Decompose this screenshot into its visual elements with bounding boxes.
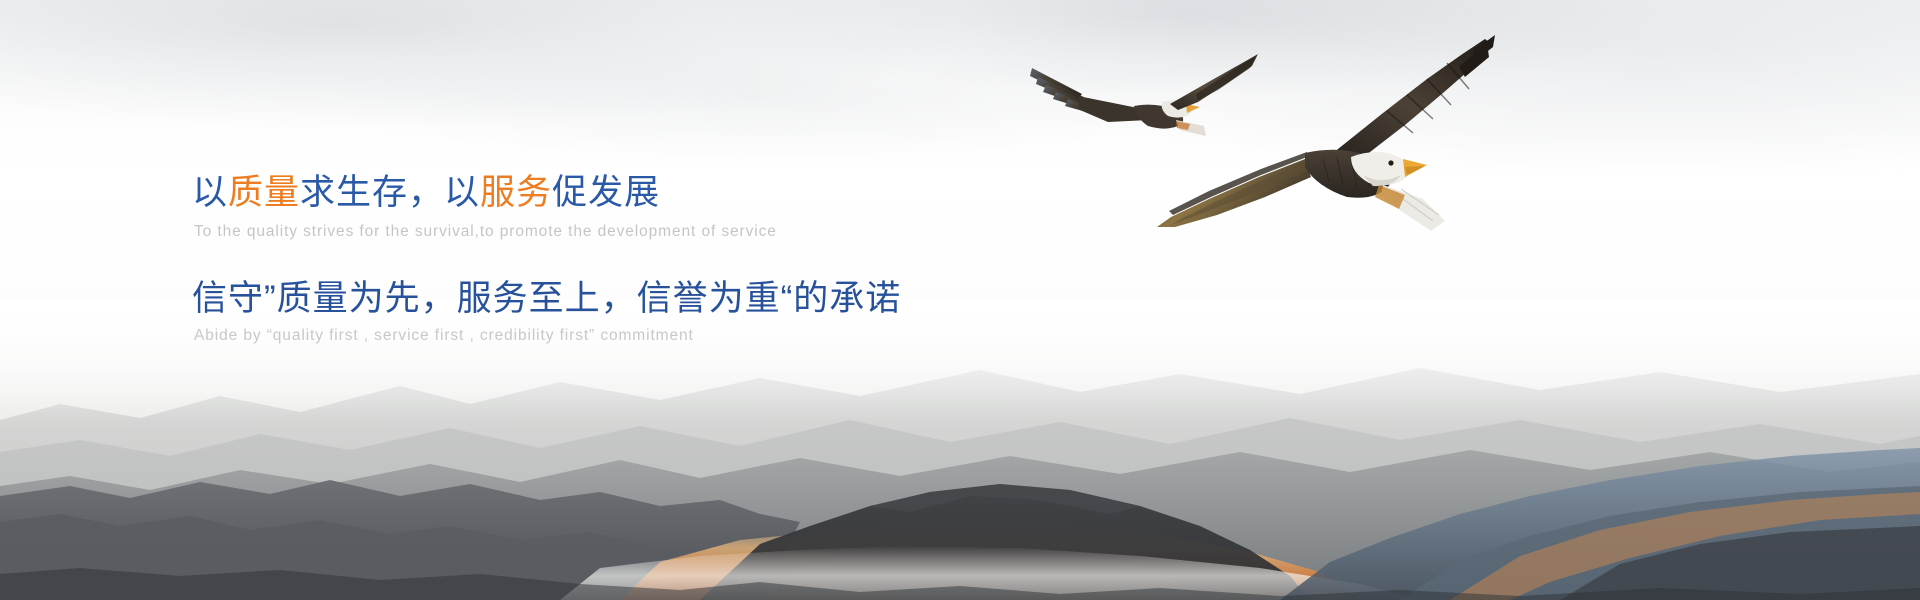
banner-copy: 以质量求生存，以服务促发展 To the quality strives for… bbox=[192, 172, 1192, 345]
subtitle-primary: To the quality strives for the survival,… bbox=[194, 221, 1192, 243]
eagle-lower-right-wing bbox=[1333, 39, 1493, 159]
eagle-lower bbox=[1155, 35, 1495, 250]
hero-banner: 以质量求生存，以服务促发展 To the quality strives for… bbox=[0, 0, 1920, 600]
headline-secondary: 信守”质量为先，服务至上，信誉为重“的承诺 bbox=[192, 278, 1192, 321]
headline-1-part-5: 促发展 bbox=[552, 173, 660, 212]
headline-1-part-2: 质量 bbox=[228, 173, 300, 212]
subtitle-secondary: Abide by “quality first , service first … bbox=[194, 327, 1192, 345]
headline-1-part-4: 服务 bbox=[480, 173, 552, 212]
headline-1-part-3: 求生存，以 bbox=[300, 173, 480, 212]
eagle-lower-eye bbox=[1388, 160, 1393, 165]
copy-block-secondary: 信守”质量为先，服务至上，信誉为重“的承诺 Abide by “quality … bbox=[192, 278, 1192, 345]
headline-primary: 以质量求生存，以服务促发展 bbox=[192, 172, 1192, 215]
eagle-lower-beak-shade bbox=[1405, 166, 1425, 175]
headline-1-part-1: 以 bbox=[192, 173, 228, 212]
